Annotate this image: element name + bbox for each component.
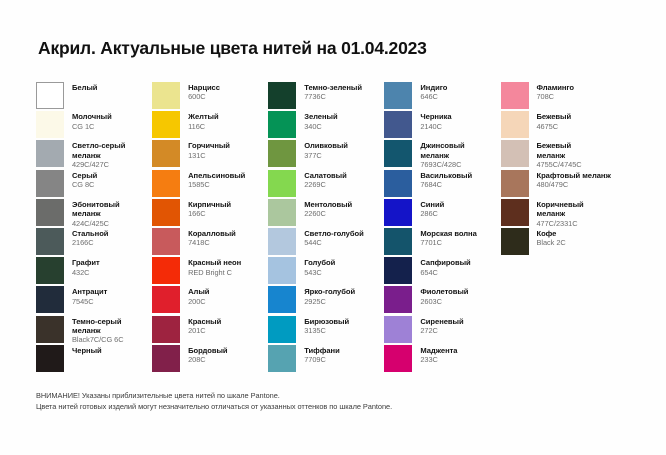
- color-name: Стальной: [72, 229, 108, 238]
- color-labels: Зеленый340C: [304, 111, 337, 131]
- color-name: Нарцисс: [188, 83, 220, 92]
- color-name: Желтый: [188, 112, 218, 121]
- color-name: Коралловый: [188, 229, 236, 238]
- color-row: Эбонитовыймеланж424C/425C: [36, 199, 152, 228]
- color-name-line2: меланж: [72, 151, 125, 160]
- color-name: Бежевый: [537, 141, 582, 150]
- color-swatch: [152, 257, 180, 284]
- color-labels: Бордовый208C: [188, 345, 227, 365]
- color-pantone-code: 272C: [420, 326, 463, 335]
- color-row: Желтый116C: [152, 111, 268, 140]
- color-row: Стальной2166C: [36, 228, 152, 257]
- color-row: МолочныйCG 1C: [36, 111, 152, 140]
- color-labels: Сиреневый272C: [420, 316, 463, 336]
- color-pantone-code: Black 2C: [537, 238, 566, 247]
- color-row: Алый200C: [152, 286, 268, 315]
- color-swatch: [152, 286, 180, 313]
- color-pantone-code: CG 8C: [72, 180, 97, 189]
- color-pantone-code: 7709C: [304, 355, 339, 364]
- color-name: Красный: [188, 317, 221, 326]
- color-row: Маджента233C: [384, 345, 500, 374]
- color-pantone-code: 543C: [304, 268, 335, 277]
- color-labels: Морская волна7701C: [420, 228, 476, 248]
- color-pantone-code: 1585C: [188, 180, 245, 189]
- color-pantone-code: 424C/425C: [72, 219, 120, 228]
- color-labels: Синий286C: [420, 199, 444, 219]
- color-row: Черника2140C: [384, 111, 500, 140]
- color-row: Васильковый7684C: [384, 170, 500, 199]
- color-row: Индиго646C: [384, 82, 500, 111]
- color-labels: Коричневыймеланж477C/2331C: [537, 199, 584, 228]
- color-name: Темно-серый: [72, 317, 124, 326]
- color-row: Бирюзовый3135C: [268, 316, 384, 345]
- color-name-line2: меланж: [72, 326, 124, 335]
- color-pantone-code: 286C: [420, 209, 444, 218]
- color-grid: БелыйМолочныйCG 1CСветло-серыймеланж429C…: [36, 82, 636, 374]
- color-pantone-code: 7545C: [72, 297, 107, 306]
- color-row: Ярко-голубой2925C: [268, 286, 384, 315]
- color-pantone-code: 2925C: [304, 297, 355, 306]
- color-name: Горчичный: [188, 141, 230, 150]
- disclaimer-footer: ВНИМАНИЕ! Указаны приблизительные цвета …: [36, 390, 392, 412]
- color-pantone-code: 7684C: [420, 180, 472, 189]
- color-labels: Маджента233C: [420, 345, 457, 365]
- color-row: Оливковый377C: [268, 140, 384, 169]
- color-swatch: [152, 345, 180, 372]
- color-name: Салатовый: [304, 171, 346, 180]
- color-column: Темно-зеленый7736CЗеленый340CОливковый37…: [268, 82, 384, 374]
- color-pantone-code: 233C: [420, 355, 457, 364]
- color-labels: Оливковый377C: [304, 140, 348, 160]
- color-swatch: [384, 316, 412, 343]
- color-pantone-code: RED Bright C: [188, 268, 241, 277]
- color-pantone-code: Black7C/CG 6C: [72, 335, 124, 344]
- color-name: Коричневый: [537, 200, 584, 209]
- color-swatch: [268, 286, 296, 313]
- color-pantone-code: 480/479C: [537, 180, 611, 189]
- color-swatch: [384, 140, 412, 167]
- color-row: Светло-голубой544C: [268, 228, 384, 257]
- color-pantone-code: 2603C: [420, 297, 468, 306]
- color-swatch: [268, 316, 296, 343]
- color-name: Кофе: [537, 229, 566, 238]
- color-pantone-code: 2166C: [72, 238, 108, 247]
- color-swatch: [268, 257, 296, 284]
- color-row: Нарцисс600C: [152, 82, 268, 111]
- color-labels: Светло-серыймеланж429C/427C: [72, 140, 125, 169]
- color-swatch: [384, 199, 412, 226]
- color-labels: КофеBlack 2C: [537, 228, 566, 248]
- color-row: КофеBlack 2C: [501, 228, 636, 257]
- color-row: Темно-зеленый7736C: [268, 82, 384, 111]
- color-row: Сапфировый654C: [384, 257, 500, 286]
- color-chart-page: Акрил. Актуальные цвета нитей на 01.04.2…: [0, 0, 666, 455]
- color-labels: Нарцисс600C: [188, 82, 220, 102]
- color-row: Коричневыймеланж477C/2331C: [501, 199, 636, 228]
- color-row: Зеленый340C: [268, 111, 384, 140]
- color-name: Светло-голубой: [304, 229, 363, 238]
- color-swatch: [36, 170, 64, 197]
- color-labels: Темно-серыймеланжBlack7C/CG 6C: [72, 316, 124, 345]
- color-name: Светло-серый: [72, 141, 125, 150]
- color-swatch: [384, 111, 412, 138]
- color-name: Маджента: [420, 346, 457, 355]
- color-row: Фиолетовый2603C: [384, 286, 500, 315]
- color-swatch: [36, 257, 64, 284]
- color-row: Светло-серыймеланж429C/427C: [36, 140, 152, 169]
- color-swatch: [501, 199, 529, 226]
- color-swatch: [152, 228, 180, 255]
- color-pantone-code: 2269C: [304, 180, 346, 189]
- color-name: Красный неон: [188, 258, 241, 267]
- color-pantone-code: 377C: [304, 151, 348, 160]
- color-labels: СерыйCG 8C: [72, 170, 97, 190]
- color-row: СерыйCG 8C: [36, 170, 152, 199]
- color-labels: Горчичный131C: [188, 140, 230, 160]
- color-swatch: [384, 228, 412, 255]
- color-row: Тиффани7709C: [268, 345, 384, 374]
- color-labels: Черный: [72, 345, 102, 355]
- color-row: Белый: [36, 82, 152, 111]
- color-row: Голубой543C: [268, 257, 384, 286]
- color-swatch: [384, 257, 412, 284]
- color-pantone-code: 429C/427C: [72, 160, 125, 169]
- color-row: Крафтовый меланж480/479C: [501, 170, 636, 199]
- color-row: Коралловый7418C: [152, 228, 268, 257]
- color-labels: Салатовый2269C: [304, 170, 346, 190]
- color-swatch: [384, 286, 412, 313]
- color-row: Сиреневый272C: [384, 316, 500, 345]
- color-row: Графит432C: [36, 257, 152, 286]
- color-name: Крафтовый меланж: [537, 171, 611, 180]
- color-pantone-code: 2260C: [304, 209, 352, 218]
- color-name: Молочный: [72, 112, 112, 121]
- color-name-line2: меланж: [420, 151, 464, 160]
- color-name: Серый: [72, 171, 97, 180]
- color-row: Бежевый4675C: [501, 111, 636, 140]
- color-row: Бежевыймеланж4755C/4745C: [501, 140, 636, 169]
- color-swatch: [152, 111, 180, 138]
- color-labels: МолочныйCG 1C: [72, 111, 112, 131]
- color-row: Горчичный131C: [152, 140, 268, 169]
- color-swatch: [36, 140, 64, 167]
- color-row: Черный: [36, 345, 152, 374]
- color-pantone-code: 3135C: [304, 326, 349, 335]
- color-name: Сиреневый: [420, 317, 463, 326]
- color-labels: Алый200C: [188, 286, 209, 306]
- color-swatch: [501, 140, 529, 167]
- color-swatch: [268, 170, 296, 197]
- color-swatch: [384, 170, 412, 197]
- color-name: Фиолетовый: [420, 287, 468, 296]
- color-pantone-code: CG 1C: [72, 122, 112, 131]
- color-swatch: [152, 316, 180, 343]
- color-swatch: [152, 199, 180, 226]
- page-title: Акрил. Актуальные цвета нитей на 01.04.2…: [38, 38, 427, 59]
- color-name: Зеленый: [304, 112, 337, 121]
- color-labels: Джинсовыймеланж7693C/428C: [420, 140, 464, 169]
- color-name: Антрацит: [72, 287, 107, 296]
- color-swatch: [36, 228, 64, 255]
- color-name: Оливковый: [304, 141, 348, 150]
- color-pantone-code: 208C: [188, 355, 227, 364]
- color-pantone-code: 7736C: [304, 92, 362, 101]
- color-labels: Эбонитовыймеланж424C/425C: [72, 199, 120, 228]
- color-labels: Бежевый4675C: [537, 111, 572, 131]
- color-column: Нарцисс600CЖелтый116CГорчичный131CАпельс…: [152, 82, 268, 374]
- color-swatch: [268, 82, 296, 109]
- color-pantone-code: 4675C: [537, 122, 572, 131]
- color-swatch: [384, 82, 412, 109]
- color-labels: Сапфировый654C: [420, 257, 470, 277]
- color-labels: Красный неонRED Bright C: [188, 257, 241, 277]
- color-row: Красный неонRED Bright C: [152, 257, 268, 286]
- color-pantone-code: 7701C: [420, 238, 476, 247]
- color-swatch: [152, 140, 180, 167]
- color-swatch: [501, 82, 529, 109]
- color-name: Бежевый: [537, 112, 572, 121]
- color-pantone-code: 131C: [188, 151, 230, 160]
- color-name: Индиго: [420, 83, 447, 92]
- color-name: Голубой: [304, 258, 335, 267]
- color-swatch: [36, 82, 64, 109]
- color-pantone-code: 477C/2331C: [537, 219, 584, 228]
- color-pantone-code: 2140C: [420, 122, 451, 131]
- color-row: Салатовый2269C: [268, 170, 384, 199]
- color-pantone-code: 200C: [188, 297, 209, 306]
- color-name: Белый: [72, 83, 97, 92]
- color-labels: Красный201C: [188, 316, 221, 336]
- color-column: БелыйМолочныйCG 1CСветло-серыймеланж429C…: [36, 82, 152, 374]
- color-name: Эбонитовый: [72, 200, 120, 209]
- color-name-line2: меланж: [537, 209, 584, 218]
- color-labels: Ментоловый2260C: [304, 199, 352, 219]
- color-labels: Стальной2166C: [72, 228, 108, 248]
- color-pantone-code: 340C: [304, 122, 337, 131]
- color-labels: Тиффани7709C: [304, 345, 339, 365]
- color-swatch: [268, 228, 296, 255]
- color-labels: Фламинго708C: [537, 82, 575, 102]
- color-labels: Антрацит7545C: [72, 286, 107, 306]
- color-labels: Фиолетовый2603C: [420, 286, 468, 306]
- color-pantone-code: 4755C/4745C: [537, 160, 582, 169]
- color-pantone-code: 201C: [188, 326, 221, 335]
- color-name: Графит: [72, 258, 100, 267]
- color-row: Красный201C: [152, 316, 268, 345]
- color-swatch: [501, 170, 529, 197]
- color-labels: Индиго646C: [420, 82, 447, 102]
- color-labels: Коралловый7418C: [188, 228, 236, 248]
- color-labels: Васильковый7684C: [420, 170, 472, 190]
- color-swatch: [152, 170, 180, 197]
- color-row: Кирпичный166C: [152, 199, 268, 228]
- color-swatch: [268, 199, 296, 226]
- color-row: Фламинго708C: [501, 82, 636, 111]
- color-name-line2: меланж: [537, 151, 582, 160]
- color-name: Тиффани: [304, 346, 339, 355]
- color-swatch: [36, 345, 64, 372]
- color-name: Морская волна: [420, 229, 476, 238]
- color-pantone-code: 654C: [420, 268, 470, 277]
- color-swatch: [36, 286, 64, 313]
- color-labels: Светло-голубой544C: [304, 228, 363, 248]
- color-name: Бирюзовый: [304, 317, 349, 326]
- color-labels: Желтый116C: [188, 111, 218, 131]
- color-labels: Крафтовый меланж480/479C: [537, 170, 611, 190]
- color-pantone-code: 600C: [188, 92, 220, 101]
- color-name: Сапфировый: [420, 258, 470, 267]
- color-pantone-code: 7418C: [188, 238, 236, 247]
- color-pantone-code: 544C: [304, 238, 363, 247]
- color-name: Кирпичный: [188, 200, 231, 209]
- color-name: Ментоловый: [304, 200, 352, 209]
- color-swatch: [36, 199, 64, 226]
- color-labels: Голубой543C: [304, 257, 335, 277]
- color-column: Фламинго708CБежевый4675CБежевыймеланж475…: [501, 82, 636, 374]
- disclaimer-line-1: ВНИМАНИЕ! Указаны приблизительные цвета …: [36, 390, 392, 401]
- color-name: Васильковый: [420, 171, 472, 180]
- color-name: Бордовый: [188, 346, 227, 355]
- color-swatch: [152, 82, 180, 109]
- color-labels: Ярко-голубой2925C: [304, 286, 355, 306]
- color-row: Ментоловый2260C: [268, 199, 384, 228]
- color-labels: Черника2140C: [420, 111, 451, 131]
- color-name: Джинсовый: [420, 141, 464, 150]
- color-swatch: [268, 140, 296, 167]
- color-pantone-code: 708C: [537, 92, 575, 101]
- color-row: Апельсиновый1585C: [152, 170, 268, 199]
- color-labels: Кирпичный166C: [188, 199, 231, 219]
- color-row: Джинсовыймеланж7693C/428C: [384, 140, 500, 169]
- color-swatch: [268, 111, 296, 138]
- color-labels: Бежевыймеланж4755C/4745C: [537, 140, 582, 169]
- color-name: Фламинго: [537, 83, 575, 92]
- color-name: Апельсиновый: [188, 171, 245, 180]
- color-pantone-code: 166C: [188, 209, 231, 218]
- color-swatch: [501, 228, 529, 255]
- color-pantone-code: 646C: [420, 92, 447, 101]
- color-name: Алый: [188, 287, 209, 296]
- color-row: Антрацит7545C: [36, 286, 152, 315]
- color-labels: Бирюзовый3135C: [304, 316, 349, 336]
- color-pantone-code: 432C: [72, 268, 100, 277]
- color-name: Черный: [72, 346, 102, 355]
- color-swatch: [36, 111, 64, 138]
- color-row: Темно-серыймеланжBlack7C/CG 6C: [36, 316, 152, 345]
- color-labels: Белый: [72, 82, 97, 92]
- color-swatch: [384, 345, 412, 372]
- color-column: Индиго646CЧерника2140CДжинсовыймеланж769…: [384, 82, 500, 374]
- disclaimer-line-2: Цвета нитей готовых изделий могут незнач…: [36, 401, 392, 412]
- color-swatch: [501, 111, 529, 138]
- color-name: Черника: [420, 112, 451, 121]
- color-labels: Графит432C: [72, 257, 100, 277]
- color-swatch: [36, 316, 64, 343]
- color-labels: Темно-зеленый7736C: [304, 82, 362, 102]
- color-name-line2: меланж: [72, 209, 120, 218]
- color-pantone-code: 7693C/428C: [420, 160, 464, 169]
- color-swatch: [268, 345, 296, 372]
- color-row: Бордовый208C: [152, 345, 268, 374]
- color-labels: Апельсиновый1585C: [188, 170, 245, 190]
- color-name: Синий: [420, 200, 444, 209]
- color-row: Морская волна7701C: [384, 228, 500, 257]
- color-row: Синий286C: [384, 199, 500, 228]
- color-pantone-code: 116C: [188, 122, 218, 131]
- color-name: Темно-зеленый: [304, 83, 362, 92]
- color-name: Ярко-голубой: [304, 287, 355, 296]
